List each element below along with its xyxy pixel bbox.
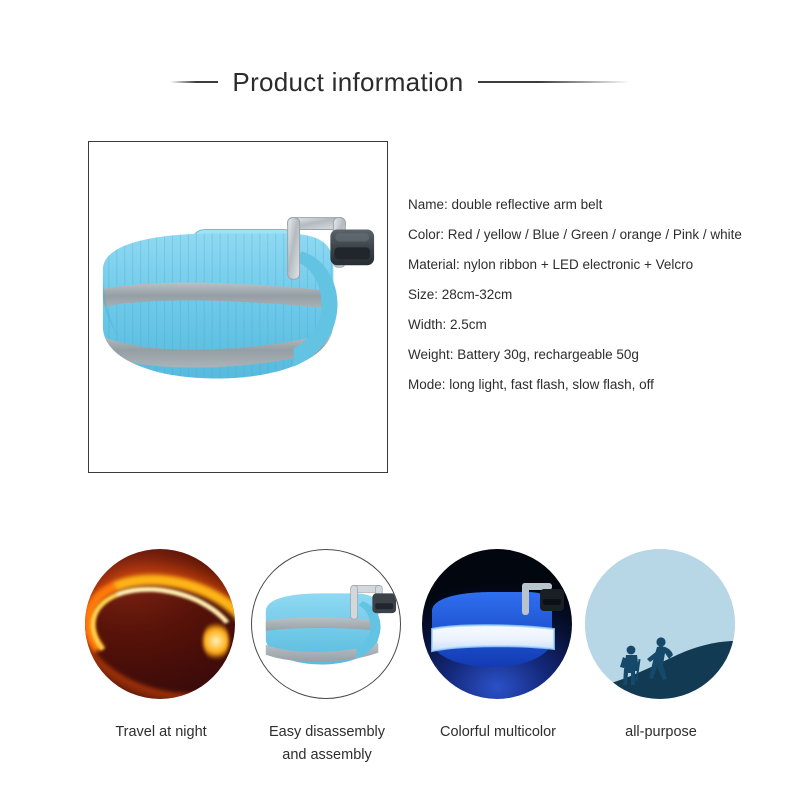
- page-title-bar: Product information: [0, 62, 800, 102]
- feature-all-purpose: all-purpose: [585, 549, 737, 779]
- product-image-frame: [88, 141, 388, 473]
- title-rule-right: [478, 81, 630, 83]
- feature-easy-disassembly: Easy disassembly and assembly: [251, 549, 403, 779]
- feature-caption-line1: Easy disassembly: [269, 724, 385, 740]
- arm-belt-thumb-illustration: [252, 550, 400, 698]
- glowing-belt-illustration: [422, 549, 572, 699]
- spec-line-name: Name: double reflective arm belt: [408, 190, 788, 220]
- feature-caption-line2: and assembly: [282, 747, 371, 763]
- spec-line-size: Size: 28cm-32cm: [408, 280, 788, 310]
- feature-colorful-multicolor: Colorful multicolor: [422, 549, 574, 779]
- arm-belt-illustration: [89, 142, 387, 472]
- feature-highlights-row: Travel at night: [85, 549, 735, 779]
- title-rule-left: [170, 81, 218, 83]
- hikers-silhouette-illustration: [585, 549, 735, 699]
- spec-line-width: Width: 2.5cm: [408, 310, 788, 340]
- spec-line-weight: Weight: Battery 30g, rechargeable 50g: [408, 340, 788, 370]
- page-title: Product information: [232, 67, 463, 98]
- led-clip-module: [330, 230, 374, 266]
- feature-image-travel-at-night: [85, 549, 235, 699]
- feature-image-easy-disassembly: [251, 549, 401, 699]
- spec-line-material: Material: nylon ribbon + LED electronic …: [408, 250, 788, 280]
- feature-image-all-purpose: [585, 549, 735, 699]
- feature-caption-travel-at-night: Travel at night: [73, 721, 249, 744]
- product-spec-list: Name: double reflective arm belt Color: …: [408, 190, 788, 400]
- product-hero-image: [89, 142, 387, 472]
- feature-caption-all-purpose: all-purpose: [573, 721, 749, 744]
- feature-caption-easy-disassembly: Easy disassembly and assembly: [239, 721, 415, 767]
- feature-travel-at-night: Travel at night: [85, 549, 237, 779]
- spec-line-color: Color: Red / yellow / Blue / Green / ora…: [408, 220, 788, 250]
- red-glow-tip-icon: [203, 621, 229, 661]
- spec-line-mode: Mode: long light, fast flash, slow flash…: [408, 370, 788, 400]
- feature-caption-colorful-multicolor: Colorful multicolor: [410, 721, 586, 744]
- feature-image-colorful-multicolor: [422, 549, 572, 699]
